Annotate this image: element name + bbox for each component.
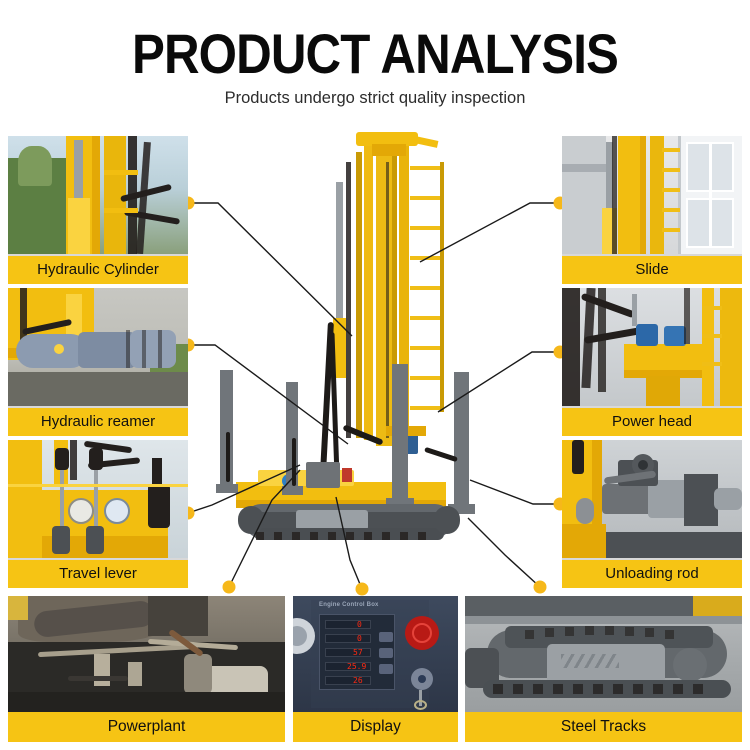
- caption-travel-lever: Travel lever: [8, 560, 188, 588]
- connector-dot-steel-tracks: [534, 581, 547, 594]
- panel-display[interactable]: Engine Control Box 0 0 57 25.9 26 Displa…: [293, 596, 458, 742]
- readout-value-1: 0: [357, 634, 362, 643]
- connector-line-hydraulic-reamer: [188, 345, 348, 444]
- caption-steel-tracks: Steel Tracks: [465, 712, 742, 742]
- connector-line-slide: [420, 203, 560, 262]
- photo-powerplant: [8, 596, 285, 712]
- readout-value-3: 25.9: [347, 662, 366, 671]
- photo-hydraulic-cylinder: [8, 136, 188, 254]
- photo-unloading-rod: [562, 440, 742, 558]
- panel-hydraulic-cylinder[interactable]: Hydraulic Cylinder: [8, 136, 188, 284]
- engine-control-box-label: Engine Control Box: [319, 602, 419, 608]
- panel-unloading-rod[interactable]: Unloading rod: [562, 440, 742, 588]
- caption-hydraulic-cylinder: Hydraulic Cylinder: [8, 256, 188, 284]
- panel-slide[interactable]: Slide: [562, 136, 742, 284]
- connector-line-steel-tracks: [468, 518, 540, 587]
- connector-line-powerplant: [229, 470, 300, 587]
- caption-power-head: Power head: [562, 408, 742, 436]
- panel-steel-tracks[interactable]: Steel Tracks: [465, 596, 742, 742]
- caption-unloading-rod: Unloading rod: [562, 560, 742, 588]
- panel-power-head[interactable]: Power head: [562, 288, 742, 436]
- caption-display: Display: [293, 712, 458, 742]
- caption-slide: Slide: [562, 256, 742, 284]
- panel-powerplant[interactable]: Powerplant: [8, 596, 285, 742]
- connector-line-display: [336, 497, 362, 589]
- connector-line-unloading-rod: [470, 480, 560, 504]
- panel-hydraulic-reamer[interactable]: Hydraulic reamer: [8, 288, 188, 436]
- caption-powerplant: Powerplant: [8, 712, 285, 742]
- photo-hydraulic-reamer: [8, 288, 188, 406]
- photo-slide: [562, 136, 742, 254]
- readout-value-2: 57: [353, 648, 363, 657]
- photo-travel-lever: [8, 440, 188, 558]
- photo-steel-tracks: [465, 596, 742, 712]
- connector-line-hydraulic-cylinder: [188, 203, 352, 336]
- connector-dot-powerplant: [223, 581, 236, 594]
- photo-display: Engine Control Box 0 0 57 25.9 26: [293, 596, 458, 712]
- panel-travel-lever[interactable]: Travel lever: [8, 440, 188, 588]
- readout-value-4: 26: [353, 676, 363, 685]
- readout-value-0: 0: [357, 620, 362, 629]
- connector-dot-display: [356, 583, 369, 596]
- caption-hydraulic-reamer: Hydraulic reamer: [8, 408, 188, 436]
- connector-line-power-head: [438, 352, 560, 412]
- photo-power-head: [562, 288, 742, 406]
